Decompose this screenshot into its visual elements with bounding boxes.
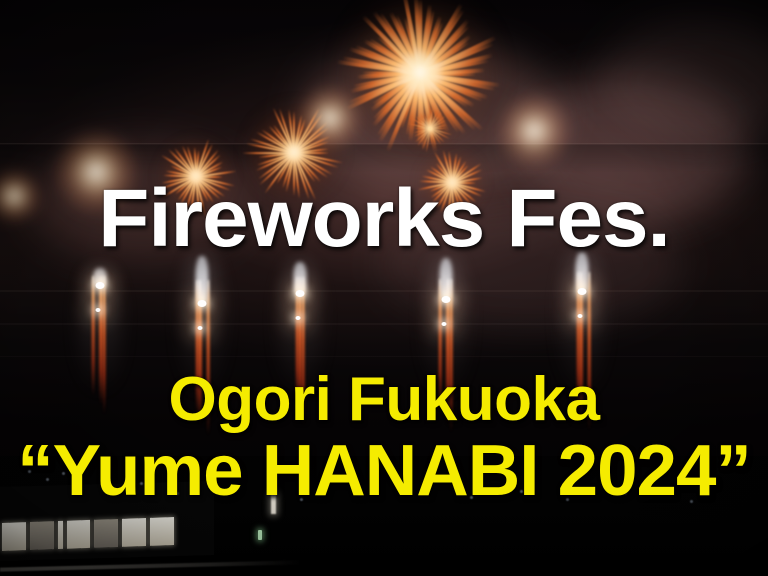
subtitle-block: Ogori Fukuoka “Yume HANABI 2024” <box>0 368 768 509</box>
subtitle-line-location: Ogori Fukuoka <box>0 368 768 431</box>
subtitle-line-event: “Yume HANABI 2024” <box>0 435 768 508</box>
poster-canvas: Fireworks Fes. Ogori Fukuoka “Yume HANAB… <box>0 0 768 576</box>
page-title: Fireworks Fes. <box>0 178 768 260</box>
